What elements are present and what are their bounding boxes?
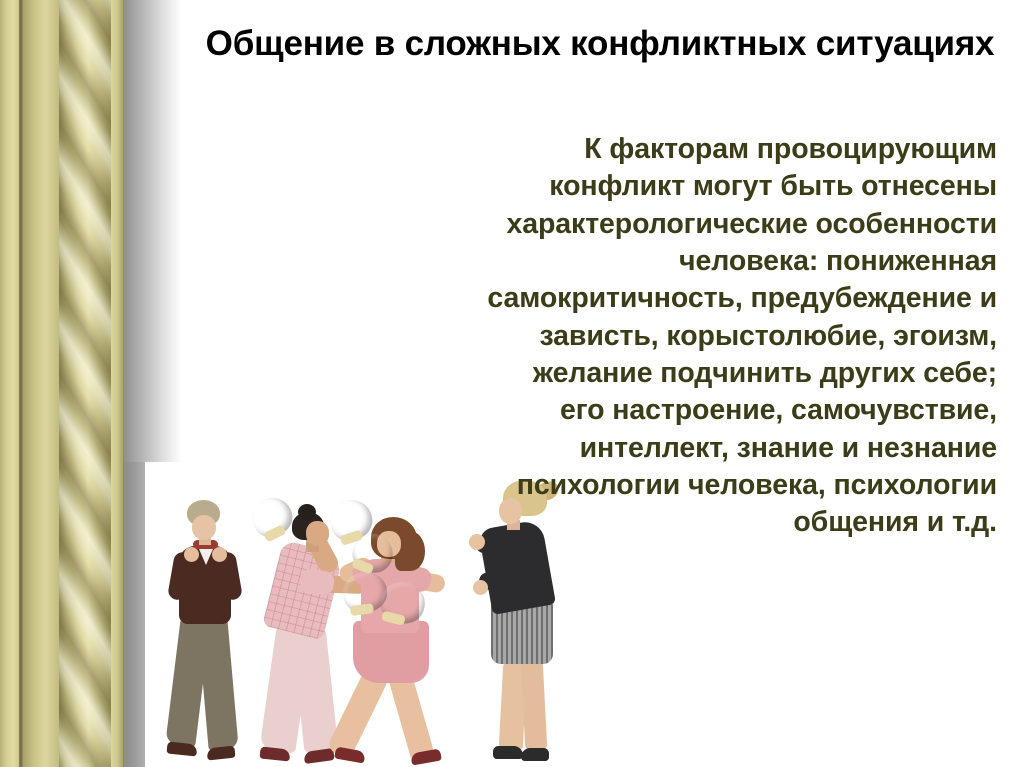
body-line: его настроение, самочувствие, [300, 392, 997, 429]
body-line: интеллект, знание и незнание [300, 430, 997, 467]
body-line: зависть, корыстолюбие, эгоизм, [300, 318, 997, 355]
body-line: характерологические особенности [300, 206, 997, 243]
leg-right [292, 627, 339, 754]
pillar-outer-flute [0, 0, 19, 767]
body-line: К факторам провоцирующим [300, 131, 997, 168]
fist-right [212, 547, 227, 562]
figure-woman-brown-top [155, 500, 247, 762]
slide-body-text: К факторам провоцирующим конфликт могут … [300, 131, 997, 542]
boxing-glove [246, 491, 299, 543]
pillar-cast-shadow-lower [123, 462, 145, 767]
fist-lower [473, 580, 488, 595]
shoe-right [521, 748, 549, 761]
slide-title: Общение в сложных конфликтных ситуациях [200, 22, 1000, 66]
face [192, 515, 216, 540]
pillar-right-flute [111, 0, 123, 767]
body-line: общения и т.д. [300, 504, 997, 541]
body-line: желание подчинить других себе; [300, 355, 997, 392]
slide-canvas: Общение в сложных конфликтных ситуациях [0, 0, 1024, 767]
shoe-left [334, 746, 366, 763]
body-line: психологии человека, психологии [300, 467, 997, 504]
pillar-inner-flute [23, 0, 59, 767]
shoe-left [493, 746, 523, 759]
body-line: самокритичность, предубеждение и [300, 280, 997, 317]
fist-left [184, 547, 199, 562]
leg-right [197, 617, 238, 751]
body-line: конфликт могут быть отнесены [300, 168, 997, 205]
shoe-right [206, 746, 235, 761]
pillar-twisted-shaft [59, 0, 111, 767]
body-line: человека: пониженная [300, 243, 997, 280]
leg-right [521, 657, 548, 752]
